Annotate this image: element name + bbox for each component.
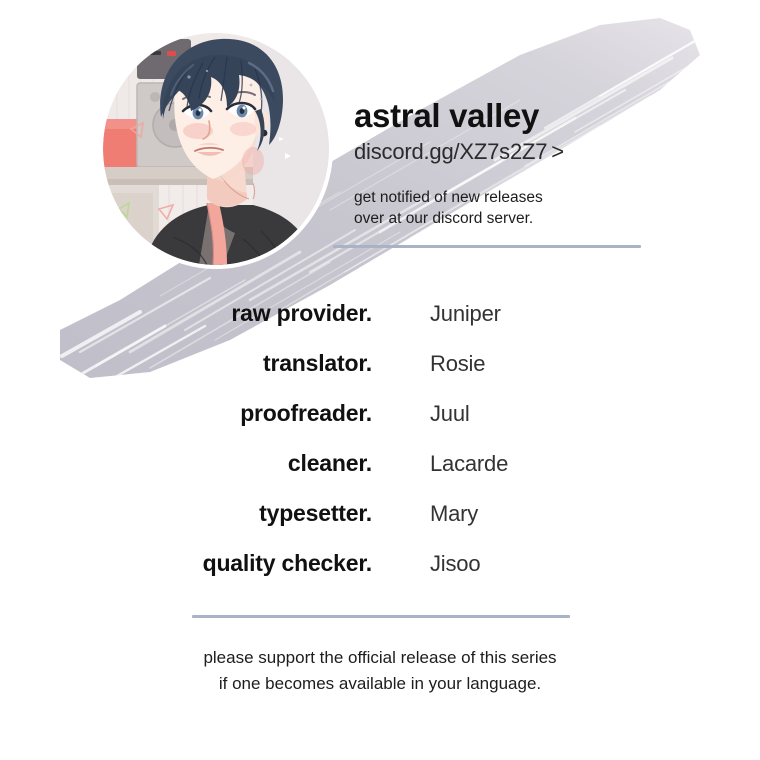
- credit-row: cleaner. Lacarde: [0, 450, 760, 500]
- credit-role-label: proofreader.: [0, 400, 372, 427]
- credit-person-name: Juul: [430, 401, 470, 427]
- support-notice-line-2: if one becomes available in your languag…: [0, 671, 760, 697]
- credits-list: raw provider. Juniper translator. Rosie …: [0, 300, 760, 600]
- chevron-right-icon: >: [551, 139, 564, 164]
- credit-person-name: Rosie: [430, 351, 485, 377]
- credit-person-name: Mary: [430, 501, 478, 527]
- credit-role-label: translator.: [0, 350, 372, 377]
- credit-role-label: typesetter.: [0, 500, 372, 527]
- support-notice: please support the official release of t…: [0, 645, 760, 696]
- credit-role-label: raw provider.: [0, 300, 372, 327]
- header-description-line-2: over at our discord server.: [354, 208, 654, 229]
- credit-role-label: cleaner.: [0, 450, 372, 477]
- credit-row: proofreader. Juul: [0, 400, 760, 450]
- credit-person-name: Lacarde: [430, 451, 508, 477]
- discord-invite-text: discord.gg/XZ7s2Z7: [354, 139, 547, 164]
- credit-row: typesetter. Mary: [0, 500, 760, 550]
- divider-bottom: [192, 615, 570, 618]
- credit-role-label: quality checker.: [0, 550, 372, 577]
- group-title: astral valley: [354, 98, 654, 134]
- header-description-line-1: get notified of new releases: [354, 187, 654, 208]
- header-description: get notified of new releases over at our…: [354, 187, 654, 230]
- credit-row: translator. Rosie: [0, 350, 760, 400]
- header-block: astral valley discord.gg/XZ7s2Z7> get no…: [354, 98, 654, 229]
- credit-person-name: Juniper: [430, 301, 501, 327]
- credit-row: quality checker. Jisoo: [0, 550, 760, 600]
- avatar-ring: [103, 33, 329, 265]
- credit-row: raw provider. Juniper: [0, 300, 760, 350]
- divider-top: [333, 245, 641, 248]
- avatar: [103, 33, 329, 265]
- support-notice-line-1: please support the official release of t…: [0, 645, 760, 671]
- discord-invite-link[interactable]: discord.gg/XZ7s2Z7>: [354, 139, 654, 165]
- credit-person-name: Jisoo: [430, 551, 480, 577]
- avatar-illustration: [103, 33, 329, 265]
- credits-page: astral valley discord.gg/XZ7s2Z7> get no…: [0, 0, 760, 760]
